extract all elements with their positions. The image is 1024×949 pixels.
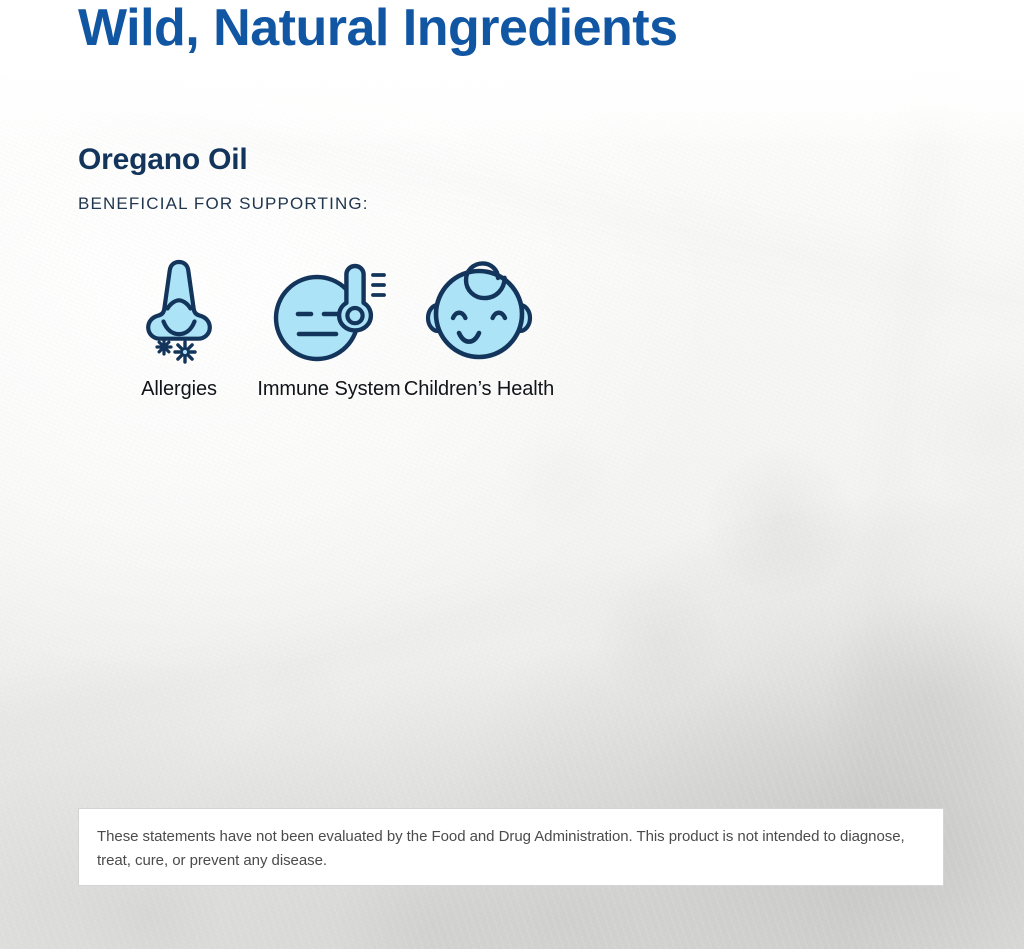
benefit-item-immune-system: Immune System	[254, 252, 404, 401]
pollen-large-icon	[175, 342, 195, 362]
benefit-label-allergies: Allergies	[141, 378, 217, 401]
thermometer-icon	[339, 266, 384, 330]
benefit-icon-wrapper	[423, 252, 535, 364]
benefit-icon-wrapper	[131, 252, 227, 364]
benefit-item-allergies: Allergies	[104, 252, 254, 401]
benefits-list: Allergies	[104, 252, 554, 401]
benefit-label-immune-system: Immune System	[257, 378, 400, 401]
fda-disclaimer-box: These statements have not been evaluated…	[78, 808, 944, 886]
sick-face-thermometer-icon	[270, 252, 388, 364]
pollen-small-icon	[157, 340, 171, 354]
ingredient-subheading: BENEFICIAL FOR SUPPORTING:	[78, 194, 369, 214]
benefit-item-childrens-health: Children’s Health	[404, 252, 554, 401]
content-layer: Wild, Natural Ingredients Oregano Oil BE…	[0, 0, 1024, 949]
product-ingredient-panel: Wild, Natural Ingredients Oregano Oil BE…	[0, 0, 1024, 949]
benefit-label-childrens-health: Children’s Health	[404, 378, 554, 401]
fda-disclaimer-text: These statements have not been evaluated…	[97, 825, 925, 874]
page-title: Wild, Natural Ingredients	[78, 0, 678, 59]
nose-allergy-icon	[131, 252, 227, 364]
benefit-icon-wrapper	[270, 252, 388, 364]
ingredient-name: Oregano Oil	[78, 142, 248, 178]
baby-face-icon	[423, 252, 535, 364]
